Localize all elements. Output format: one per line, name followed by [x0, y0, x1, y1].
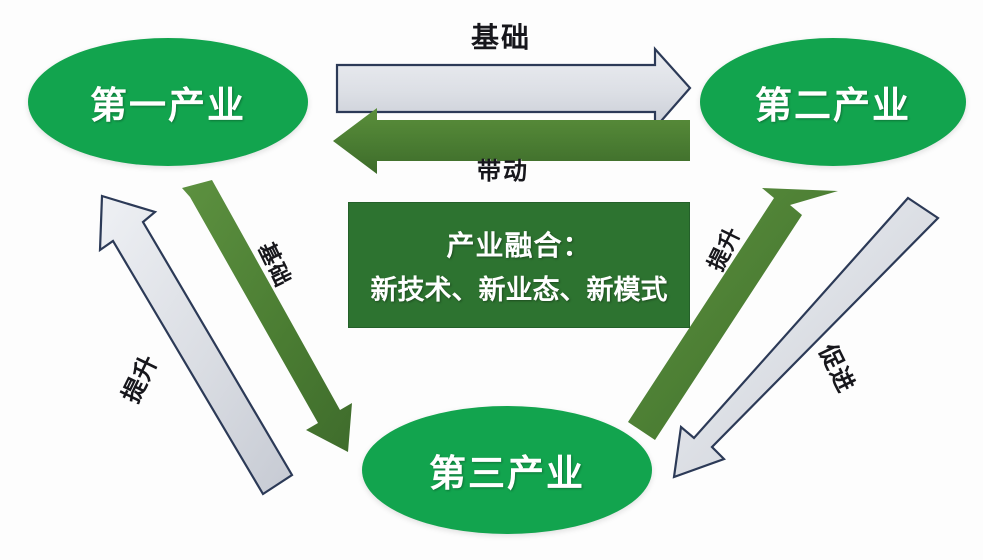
node-secondary-industry[interactable]: 第二产业: [700, 38, 966, 166]
node-primary-industry[interactable]: 第一产业: [28, 38, 308, 166]
center-panel-heading: 产业融合：: [446, 224, 591, 264]
arrow-primary-to-secondary: [337, 49, 690, 128]
center-panel-industry-integration[interactable]: 产业融合： 新技术、新业态、新模式: [348, 202, 690, 328]
arrow-label-primary-to-secondary: 基础: [471, 16, 531, 56]
arrow-primary-to-tertiary: [182, 180, 352, 452]
node-primary-industry-label: 第一产业: [90, 75, 246, 129]
arrow-tertiary-to-primary: [100, 196, 292, 494]
node-tertiary-industry[interactable]: 第三产业: [362, 406, 652, 534]
node-secondary-industry-label: 第二产业: [755, 75, 911, 129]
center-panel-subheading: 新技术、新业态、新模式: [371, 268, 668, 307]
node-tertiary-industry-label: 第三产业: [429, 443, 585, 497]
arrow-label-secondary-to-primary: 带动: [477, 151, 529, 186]
diagram-canvas: 第一产业 第二产业 第三产业 产业融合： 新技术、新业态、新模式 基础 带动 基…: [0, 0, 983, 560]
